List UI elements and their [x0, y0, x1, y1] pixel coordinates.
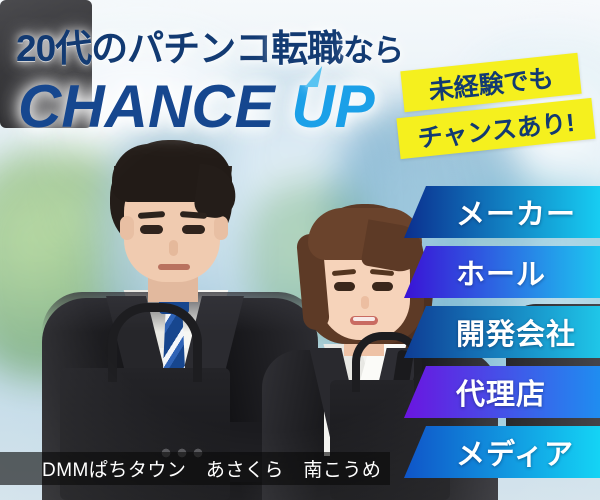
category-tag-label: 開発会社	[456, 311, 576, 353]
headline-part-3: なら	[343, 33, 403, 68]
category-tag-label: 代理店	[456, 371, 546, 413]
category-tag-label: ホール	[456, 251, 546, 293]
logo-chance-up: CHANCE UP	[18, 72, 375, 141]
category-tag-label: メディア	[456, 431, 574, 473]
experience-badge: 未経験でも チャンスあり!	[398, 58, 598, 158]
logo-word-chance: CHANCE	[18, 73, 275, 140]
logo-word-up: UP	[291, 73, 374, 140]
headline-part-2: 転職	[271, 28, 343, 69]
headline: 20代のパチンコ転職なら	[16, 18, 403, 72]
category-tag-list: メーカー ホール 開発会社 代理店 メディア	[404, 186, 600, 482]
category-tag-developer[interactable]: 開発会社	[404, 306, 600, 358]
category-tag-hall[interactable]: ホール	[404, 246, 600, 298]
category-tag-label: メーカー	[456, 191, 576, 233]
category-tag-maker[interactable]: メーカー	[404, 186, 600, 238]
headline-part-1: 20代のパチンコ	[16, 28, 271, 69]
caption-bar: DMMぱちタウン あさくら 南こうめ	[0, 452, 390, 485]
category-tag-media[interactable]: メディア	[404, 426, 600, 478]
caption-text: DMMぱちタウン あさくら 南こうめ	[42, 455, 381, 482]
recruitment-banner[interactable]: 20代のパチンコ転職なら CHANCE UP 未経験でも チャンスあり! メーカ…	[0, 0, 600, 500]
category-tag-agency[interactable]: 代理店	[404, 366, 600, 418]
